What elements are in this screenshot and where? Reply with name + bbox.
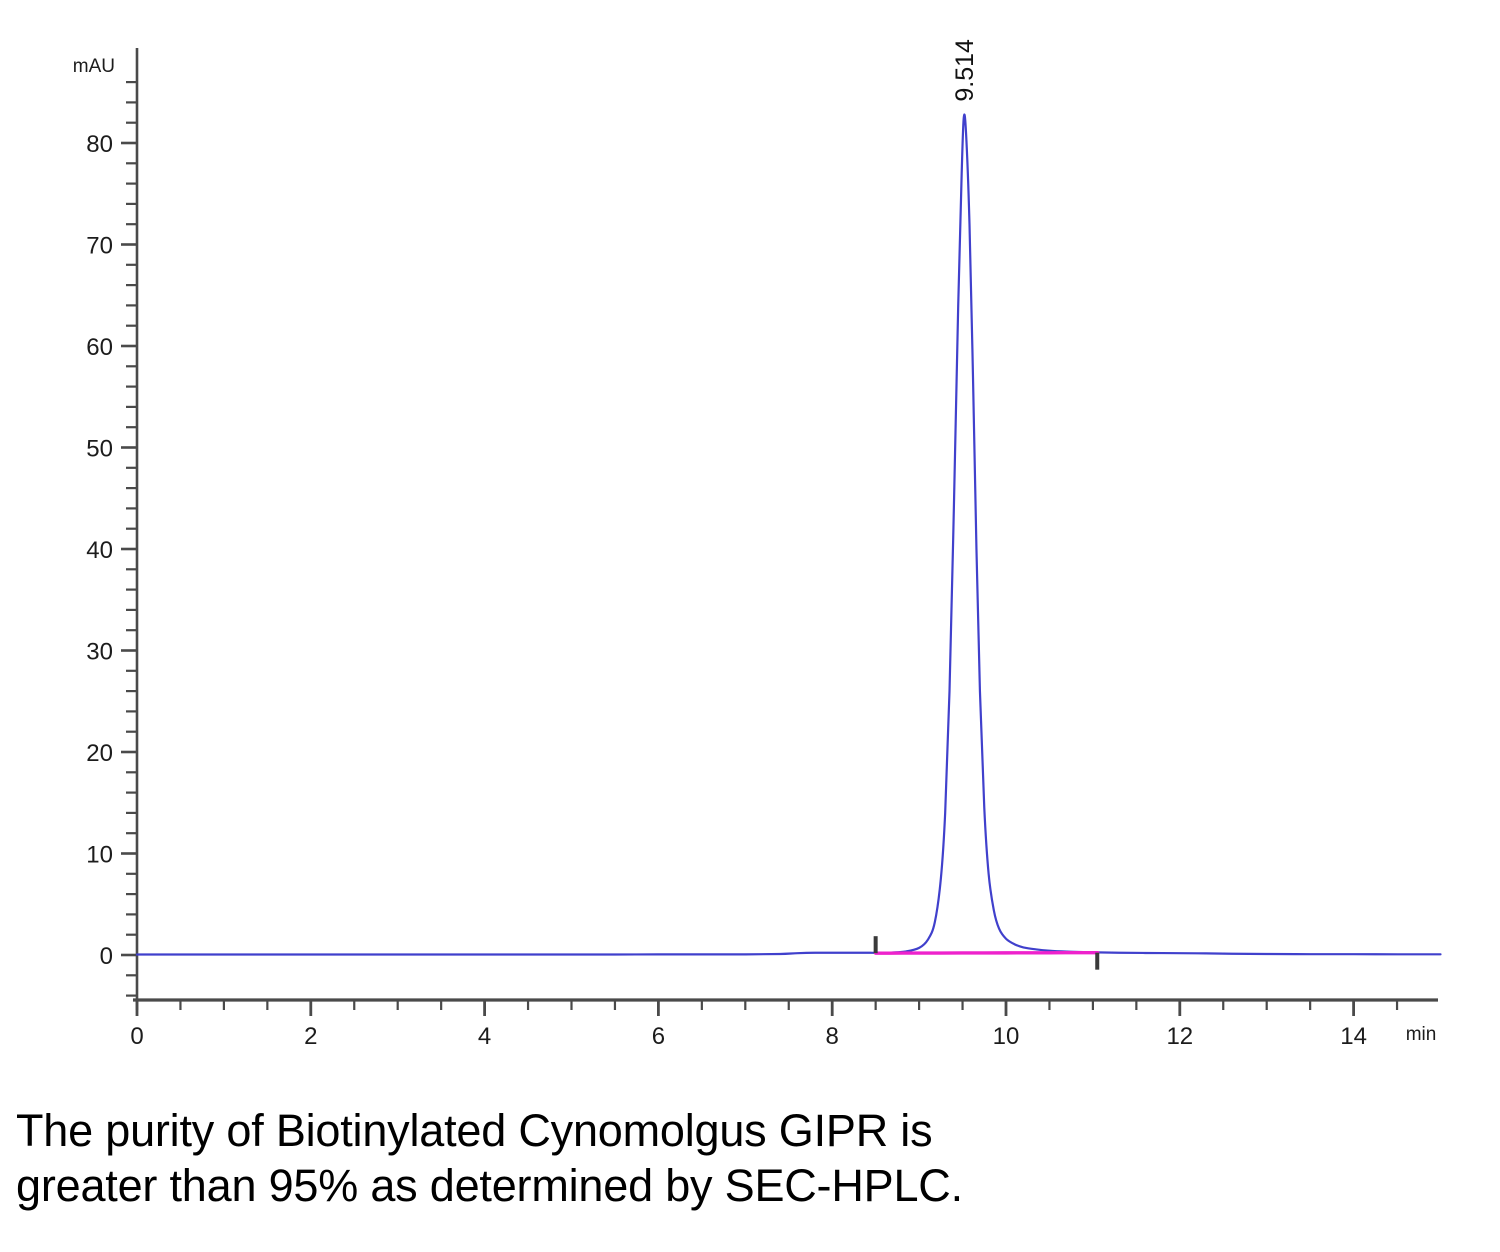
y-tick-label: 0 (100, 943, 113, 970)
peak-retention-time: 9.514 (951, 39, 979, 102)
y-tick-label: 80 (86, 131, 113, 158)
caption-line-2: greater than 95% as determined by SEC-HP… (16, 1159, 1456, 1214)
y-tick-label: 30 (86, 639, 113, 666)
x-tick-label: 12 (1166, 1023, 1193, 1050)
x-axis-unit-label: min (1406, 1024, 1437, 1045)
data-series-group (137, 115, 1441, 955)
x-tick-label: 2 (304, 1023, 317, 1050)
tick-labels-group: 01020304050607080mAU02468101214min (73, 56, 1437, 1050)
caption-line-1: The purity of Biotinylated Cynomolgus GI… (16, 1104, 1456, 1159)
figure-caption: The purity of Biotinylated Cynomolgus GI… (16, 1104, 1456, 1214)
y-tick-label: 70 (86, 233, 113, 260)
chromatogram-panel: 01020304050607080mAU02468101214min 9.514 (0, 0, 1500, 1080)
tick-marks-group (121, 82, 1397, 1016)
y-axis-unit-label: mAU (73, 56, 115, 77)
x-tick-label: 8 (826, 1023, 839, 1050)
y-tick-label: 10 (86, 842, 113, 869)
x-tick-label: 6 (652, 1023, 665, 1050)
annotations-group: 9.514 (951, 39, 979, 102)
chromatogram-plot: 01020304050607080mAU02468101214min 9.514 (0, 0, 1500, 1080)
uv-trace-path (137, 115, 1441, 955)
y-tick-label: 40 (86, 537, 113, 564)
x-tick-label: 4 (478, 1023, 491, 1050)
y-tick-label: 60 (86, 334, 113, 361)
hplc-figure-page: 01020304050607080mAU02468101214min 9.514… (0, 0, 1500, 1252)
y-tick-label: 20 (86, 740, 113, 767)
axes-group (133, 48, 1438, 1010)
x-tick-label: 14 (1340, 1023, 1367, 1050)
y-tick-label: 50 (86, 436, 113, 463)
x-tick-label: 10 (993, 1023, 1020, 1050)
x-tick-label: 0 (130, 1023, 143, 1050)
integration-baseline-path (876, 953, 1098, 954)
